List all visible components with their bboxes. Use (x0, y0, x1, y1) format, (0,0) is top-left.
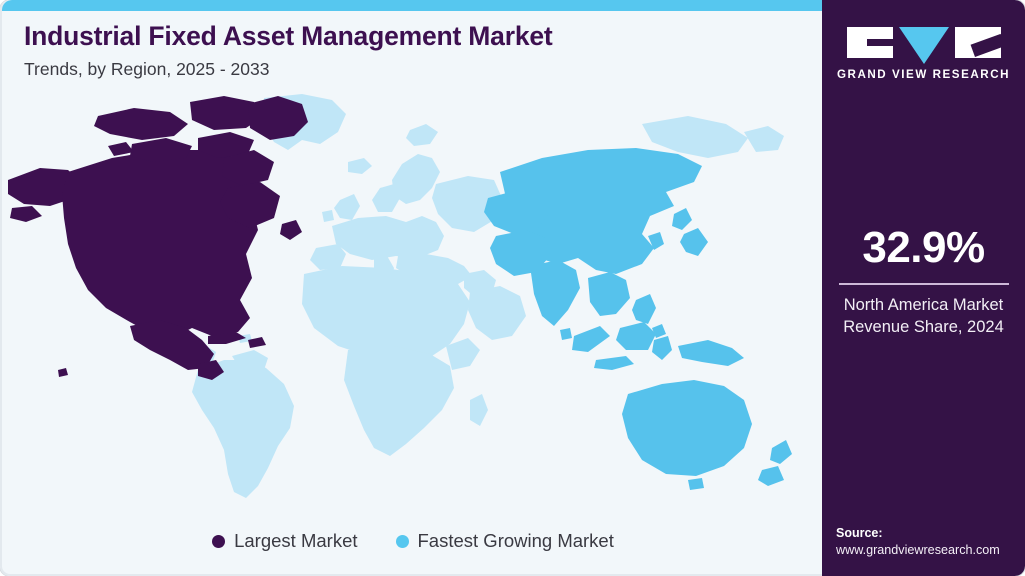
map-panel: Industrial Fixed Asset Management Market… (0, 0, 822, 576)
logo-letter-r-icon (955, 27, 1001, 58)
legend-item-largest-market: Largest Market (212, 530, 357, 552)
legend-label: Largest Market (234, 530, 357, 552)
source-block: Source: www.grandviewresearch.com (836, 525, 1025, 559)
page-subtitle: Trends, by Region, 2025 - 2033 (24, 59, 804, 79)
stat-caption-line-1: North America Market (822, 295, 1025, 317)
logo-letter-v-triangle-icon (899, 27, 949, 64)
circle-marker-icon (396, 535, 409, 548)
source-label: Source: (836, 525, 1025, 542)
stat-value: 32.9% (822, 226, 1025, 270)
logo-wordmark: GRAND VIEW RESEARCH (837, 68, 1010, 81)
map-legend: Largest Market Fastest Growing Market (2, 530, 824, 552)
header: Industrial Fixed Asset Management Market… (24, 22, 804, 79)
world-map-svg (2, 88, 824, 508)
legend-label: Fastest Growing Market (418, 530, 614, 552)
top-accent-bar (2, 0, 824, 11)
stat-block: 32.9% North America Market Revenue Share… (822, 226, 1025, 339)
page-title: Industrial Fixed Asset Management Market (24, 22, 804, 52)
brand-logo: GRAND VIEW RESEARCH (822, 27, 1025, 81)
source-url[interactable]: www.grandviewresearch.com (836, 542, 1025, 559)
stat-caption-line-2: Revenue Share, 2024 (822, 317, 1025, 339)
circle-marker-icon (212, 535, 225, 548)
world-map (2, 88, 824, 508)
logo-marks (847, 27, 1001, 60)
legend-item-fastest-growing-market: Fastest Growing Market (396, 530, 614, 552)
stat-divider (839, 283, 1009, 285)
side-panel: GRAND VIEW RESEARCH 32.9% North America … (822, 0, 1025, 576)
logo-letter-g-icon (847, 27, 893, 58)
infographic-card: Industrial Fixed Asset Management Market… (0, 0, 1025, 576)
